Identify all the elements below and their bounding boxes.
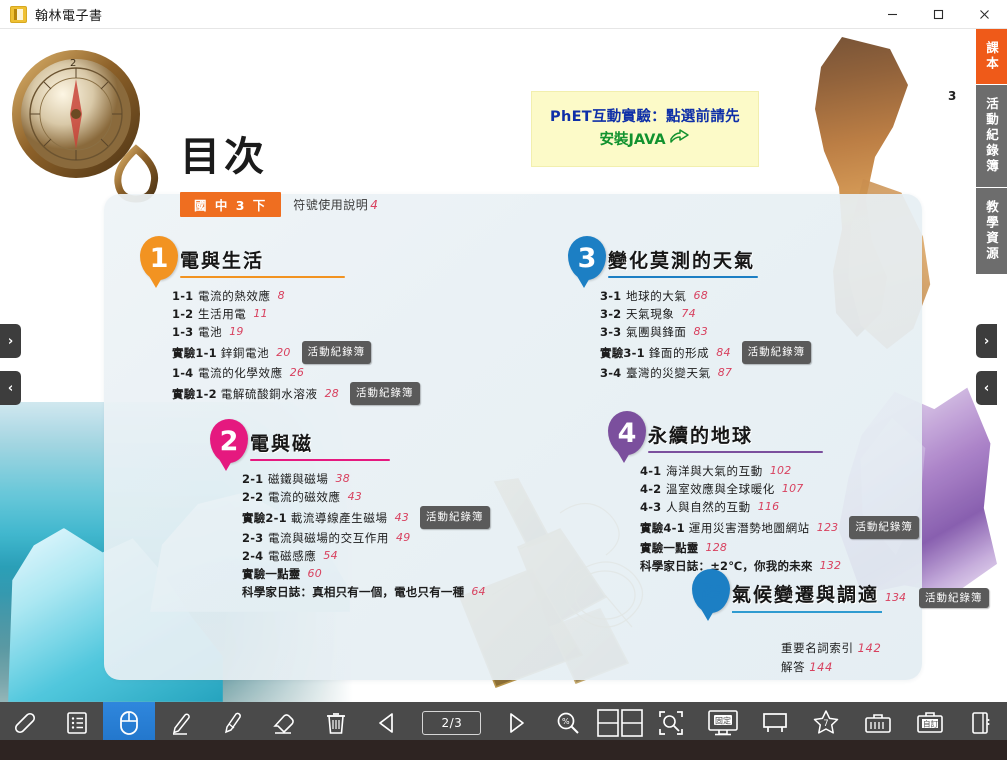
right-tab-label: 課本 (982, 41, 1001, 72)
chapter-header[interactable]: 3變化莫測的天氣 (568, 236, 811, 280)
page-number: 3 (948, 89, 956, 103)
toc-entry[interactable]: 1-3電池19 (172, 323, 420, 341)
window-title: 翰林電子書 (35, 5, 103, 24)
toc-entry-number: 1-1 (172, 287, 194, 305)
expand-icon (970, 707, 992, 739)
toc-entry-page: 68 (694, 287, 708, 305)
chapter-block-3: 3變化莫測的天氣3-1地球的大氣683-2天氣現象743-3氣團與鋒面83實驗3… (568, 236, 811, 382)
left-back-tab[interactable]: ‹ (0, 371, 21, 405)
toc-entry-number: 3-1 (600, 287, 622, 305)
chapter-number: 3 (578, 243, 597, 274)
toolbox-icon (864, 707, 892, 739)
toc-entry-page: 74 (681, 305, 695, 323)
record-book-button[interactable]: 活動紀錄簿 (420, 506, 490, 529)
toolbar-item-next-arrow[interactable]: 下一頁 (491, 702, 543, 760)
toolbar-item-label: 全刪 (324, 740, 347, 755)
toolbar-item-whiteboard[interactable]: 白板 (749, 702, 801, 760)
toolbar-item-contents[interactable]: 回目次 (52, 702, 104, 760)
toc-entry-number: 實驗1-2 (172, 385, 217, 403)
toolbar-item-trash[interactable]: 全刪 (310, 702, 362, 760)
right-tab-1[interactable]: 課本 (976, 29, 1007, 85)
toc-entry-number: 實驗一點靈 (640, 539, 699, 557)
toc-entry-number: 實驗3-1 (600, 344, 645, 362)
right-tab-strip: 課本活動紀錄簿教學資源 (976, 29, 1007, 275)
toc-entry[interactable]: 實驗1-2電解硫酸銅水溶液28活動紀錄簿 (172, 382, 420, 405)
toolbar-item-label: 展開 (970, 740, 993, 755)
toolbar-item-display-scale[interactable]: 固定顯示比例 (697, 702, 749, 760)
toolbar-item-eraser[interactable]: 橡皮擦 (258, 702, 310, 760)
toc-entry-page: 64 (471, 583, 485, 601)
toc-subheader: 國 中 3 下 符號使用說明4 (180, 192, 378, 217)
pen-icon (169, 707, 193, 739)
toolbar-item-number-picker[interactable]: 7選號器 (800, 702, 852, 760)
toolbar-item-label: 四格放大 (597, 740, 643, 755)
toc-entry-number: 4-1 (640, 462, 662, 480)
chapter-item-list: 1-1電流的熱效應81-2生活用電111-3電池19實驗1-1鋅銅電池20活動紀… (172, 287, 420, 405)
display-scale-icon: 固定 (706, 707, 740, 739)
record-book-button[interactable]: 活動紀錄簿 (742, 341, 812, 364)
toc-entry-label: 電流的磁效應 (268, 488, 341, 506)
chapter-title: 電與生活 (180, 246, 345, 273)
toolbar-item-label: 螢光筆 (215, 740, 250, 755)
chapter-block-4: 4永續的地球4-1海洋與大氣的互動1024-2溫室效應與全球暖化1074-3人與… (608, 411, 919, 575)
chapter-title: 電與磁 (250, 429, 390, 456)
cross-curricular-block: 跨 氣候變遷與調適 134 活動紀錄簿 (692, 569, 989, 613)
toolbar-item-label: 原尺寸 (551, 740, 586, 755)
toc-entry[interactable]: 實驗2-1載流導線產生磁場43活動紀錄簿 (242, 506, 490, 529)
maximize-button[interactable] (915, 0, 961, 29)
toc-entry-page: 20 (276, 344, 290, 362)
cross-badge: 跨 (692, 569, 730, 613)
chapter-rule (648, 451, 823, 453)
svg-text:%: % (562, 717, 570, 726)
record-book-button[interactable]: 活動紀錄簿 (849, 516, 919, 539)
toc-entry-page: 123 (817, 519, 839, 537)
toc-entry-number: 實驗2-1 (242, 509, 287, 527)
back-matter-page: 144 (809, 660, 833, 674)
phet-note-line1: PhET互動實驗：點選前請先 (550, 106, 740, 128)
toolbar-item-actual-size[interactable]: %原尺寸 (542, 702, 594, 760)
grade-badge: 國 中 3 下 (180, 192, 281, 217)
toolbar-item-label: 頁籤工具 (429, 740, 475, 755)
chapter-number-badge: 2 (210, 419, 248, 463)
eraser-icon (271, 707, 297, 739)
toc-entry[interactable]: 科學家日誌：真相只有一個，電也只有一種64 (242, 583, 490, 601)
book-icon (10, 6, 27, 23)
svg-text:7: 7 (824, 719, 829, 729)
toc-entry-label: 電池 (198, 323, 222, 341)
toc-entry-number: 實驗1-1 (172, 344, 217, 362)
toc-entry[interactable]: 實驗3-1鋒面的形成84活動紀錄簿 (600, 341, 811, 364)
toolbar-item-label: 上一頁 (370, 740, 405, 755)
chapter-number-badge: 1 (140, 236, 178, 280)
toolbar-item-mouse[interactable]: 滑鼠 (103, 702, 155, 760)
toc-entry-page: 43 (348, 488, 362, 506)
cross-curricular-page: 134 (885, 591, 906, 604)
toc-entry-label: 電流與磁場的交互作用 (268, 529, 389, 547)
toc-entry-label: 載流導線產生磁場 (291, 509, 388, 527)
toc-entry-page: 116 (758, 498, 780, 516)
toc-entry[interactable]: 實驗一點靈60 (242, 565, 490, 583)
record-book-button[interactable]: 活動紀錄簿 (350, 382, 420, 405)
toc-entry-label: 電磁感應 (268, 547, 316, 565)
chapter-item-list: 2-1磁鐵與磁場382-2電流的磁效應43實驗2-1載流導線產生磁場43活動紀錄… (242, 470, 490, 601)
phet-note-line2: 安裝JAVA (599, 129, 690, 152)
right-back-tab[interactable]: ‹ (976, 371, 997, 405)
toc-entry[interactable]: 3-1地球的大氣68 (600, 287, 811, 305)
toc-entry-number: 3-4 (600, 364, 622, 382)
left-forward-tab[interactable]: › (0, 324, 21, 358)
page-indicator-value[interactable]: 2/3 (422, 711, 481, 735)
toolbar-item-label: 滑鼠 (118, 740, 141, 755)
trash-icon (325, 707, 347, 739)
cross-curricular-title: 氣候變遷與調適 (732, 580, 879, 607)
back-matter-label: 重要名詞索引 (781, 641, 854, 655)
toc-entry-page: 102 (770, 462, 792, 480)
chapter-number: 2 (220, 426, 239, 457)
toolbar-item-label: 儲存 (14, 740, 37, 755)
toc-entry-number: 4-2 (640, 480, 662, 498)
toc-entry-label: 生活用電 (198, 305, 246, 323)
chapter-title: 永續的地球 (648, 421, 823, 448)
book-page: 2 (0, 29, 1007, 702)
highlighter-icon (220, 707, 244, 739)
chapter-number: 1 (150, 243, 169, 274)
chapter-rule (180, 276, 345, 278)
symbol-guide-link[interactable]: 符號使用說明4 (293, 196, 378, 213)
chapter-title: 變化莫測的天氣 (608, 246, 758, 273)
toolbar-item-label: 自訂 (918, 740, 941, 755)
toc-entry-label: 溫室效應與全球暖化 (666, 480, 775, 498)
toolbar-item-label: 工具箱 (861, 740, 896, 755)
area-zoom-icon (657, 707, 685, 739)
toc-entry-number: 實驗4-1 (640, 519, 685, 537)
toc-entry-page: 128 (706, 539, 728, 557)
toolbar-item-custom[interactable]: 自訂自訂 (904, 702, 956, 760)
toolbar-item-label: 選號器 (809, 740, 844, 755)
chapter-header[interactable]: 2電與磁 (210, 419, 490, 463)
chapter-block-2: 2電與磁2-1磁鐵與磁場382-2電流的磁效應43實驗2-1載流導線產生磁場43… (210, 419, 490, 601)
toc-entry-label: 磁鐵與磁場 (268, 470, 329, 488)
toc-entry-page: 54 (323, 547, 337, 565)
close-button[interactable] (961, 0, 1007, 29)
toolbar-item-pen[interactable]: 畫筆 (155, 702, 207, 760)
back-matter-label: 解答 (781, 660, 805, 674)
toc-entry-label: 鋅銅電池 (221, 344, 269, 362)
toolbar-item-save[interactable]: 儲存 (0, 702, 52, 760)
svg-text:固定: 固定 (715, 716, 731, 726)
save-icon (13, 707, 39, 739)
toc-entry-page: 84 (716, 344, 730, 362)
mouse-icon (115, 707, 143, 739)
toc-entry-number: 1-2 (172, 305, 194, 323)
title-bar: 翰林電子書 (0, 0, 1007, 29)
back-matter-entry[interactable]: 重要名詞索引142 (781, 639, 881, 658)
chapter-number: 4 (618, 418, 637, 449)
toc-entry-page: 87 (718, 364, 732, 382)
toc-entry-label: 電解硫酸銅水溶液 (221, 385, 318, 403)
toolbar-item-highlighter[interactable]: 螢光筆 (207, 702, 259, 760)
toolbar-item-area-zoom[interactable]: 局部放大 (646, 702, 698, 760)
back-matter-page: 142 (858, 641, 882, 655)
right-tab-label: 活動紀錄簿 (982, 97, 1001, 175)
back-matter-list: 重要名詞索引142解答144 (781, 639, 881, 677)
right-tab-label: 教學資源 (982, 200, 1001, 262)
toc-entry[interactable]: 3-4臺灣的災變天氣87 (600, 364, 811, 382)
page-indicator: 2/3 (422, 707, 481, 739)
toc-entry-number: 2-4 (242, 547, 264, 565)
window-controls (869, 0, 1007, 29)
toc-entry-number: 2-2 (242, 488, 264, 506)
actual-size-icon: % (555, 707, 581, 739)
toc-entry-number: 2-3 (242, 529, 264, 547)
toc-entry-number: 1-4 (172, 364, 194, 382)
pointing-hand-icon (669, 129, 691, 152)
toc-entry-page: 49 (396, 529, 410, 547)
toc-entry[interactable]: 實驗4-1運用災害潛勢地圖網站123活動紀錄簿 (640, 516, 919, 539)
toolbar-item-label: 橡皮擦 (267, 740, 302, 755)
toc-entry[interactable]: 4-1海洋與大氣的互動102 (640, 462, 919, 480)
toc-entry-page: 28 (325, 385, 339, 403)
toc-entry-label: 地球的大氣 (626, 287, 687, 305)
chapter-header[interactable]: 4永續的地球 (608, 411, 919, 455)
page-title: 目次 (180, 124, 378, 182)
phet-note-line2-text: 安裝JAVA (599, 129, 665, 151)
custom-icon: 自訂 (916, 707, 944, 739)
toolbar-item-label: 回目次 (60, 740, 95, 755)
chapter-item-list: 4-1海洋與大氣的互動1024-2溫室效應與全球暖化1074-3人與自然的互動1… (640, 462, 919, 575)
toc-entry-label: 運用災害潛勢地圖網站 (689, 519, 810, 537)
toolbar-item-prev-arrow[interactable]: 上一頁 (361, 702, 413, 760)
chapter-block-1: 1電與生活1-1電流的熱效應81-2生活用電111-3電池19實驗1-1鋅銅電池… (140, 236, 420, 405)
toc-entry[interactable]: 3-3氣團與鋒面83 (600, 323, 811, 341)
toc-entry-label: 臺灣的災變天氣 (626, 364, 711, 382)
chapter-item-list: 3-1地球的大氣683-2天氣現象743-3氣團與鋒面83實驗3-1鋒面的形成8… (600, 287, 811, 382)
cross-curricular-row[interactable]: 跨 氣候變遷與調適 134 活動紀錄簿 (692, 569, 989, 613)
toolbar-item-label: 畫筆 (169, 740, 192, 755)
contents-icon (65, 707, 89, 739)
toolbar-item-label: 局部放大 (648, 740, 694, 755)
toc-entry[interactable]: 2-4電磁感應54 (242, 547, 490, 565)
toc-entry[interactable]: 4-3人與自然的互動116 (640, 498, 919, 516)
symbol-guide-page: 4 (370, 198, 378, 212)
toc-entry-number: 3-2 (600, 305, 622, 323)
svg-text:2: 2 (70, 58, 76, 69)
whiteboard-icon (761, 707, 789, 739)
chapter-number-badge: 4 (608, 411, 646, 455)
right-forward-tab[interactable]: › (976, 324, 997, 358)
toc-entry-page: 43 (395, 509, 409, 527)
toc-entry[interactable]: 1-1電流的熱效應8 (172, 287, 420, 305)
symbol-guide-label: 符號使用說明 (293, 198, 368, 212)
toc-entry-page: 83 (694, 323, 708, 341)
toc-entry-number: 1-3 (172, 323, 194, 341)
toc-entry[interactable]: 2-2電流的磁效應43 (242, 488, 490, 506)
toc-entry-label: 人與自然的互動 (666, 498, 751, 516)
toolbar-item-grid-zoom[interactable]: 四格放大 (594, 702, 646, 760)
svg-text:自訂: 自訂 (923, 719, 938, 729)
toc-entry-label: 天氣現象 (626, 305, 674, 323)
toc-entry-page: 26 (290, 364, 304, 382)
compass-photo: 2 (6, 39, 176, 209)
application-window: 翰林電子書 (0, 0, 1007, 760)
toc-entry-label: 電流的化學效應 (198, 364, 283, 382)
toc-entry[interactable]: 1-2生活用電11 (172, 305, 420, 323)
chapter-header[interactable]: 1電與生活 (140, 236, 420, 280)
toolbar-item-label: 白板 (763, 740, 786, 755)
chapter-number-badge: 3 (568, 236, 606, 280)
minimize-button[interactable] (869, 0, 915, 29)
toolbar-item-page-indicator[interactable]: 2/3頁籤工具 (413, 702, 490, 760)
grid-zoom-icon (597, 707, 643, 739)
toc-entry-number: 3-3 (600, 323, 622, 341)
toc-entry[interactable]: 2-1磁鐵與磁場38 (242, 470, 490, 488)
toc-entry[interactable]: 1-4電流的化學效應26 (172, 364, 420, 382)
toc-entry-page: 38 (336, 470, 350, 488)
toc-entry[interactable]: 實驗1-1鋅銅電池20活動紀錄簿 (172, 341, 420, 364)
toc-entry-page: 19 (229, 323, 243, 341)
toolbar-item-label: 顯示比例 (700, 740, 746, 755)
toc-entry-number: 科學家日誌：真相只有一個，電也只有一種 (242, 583, 464, 601)
phet-note-box: PhET互動實驗：點選前請先 安裝JAVA (531, 91, 759, 167)
toc-entry-page: 60 (308, 565, 322, 583)
record-book-button[interactable]: 活動紀錄簿 (919, 588, 989, 608)
toc-entry-page: 8 (278, 287, 285, 305)
toolbar-item-toolbox[interactable]: 工具箱 (852, 702, 904, 760)
toc-entry-number: 2-1 (242, 470, 264, 488)
toolbar-item-label: 下一頁 (499, 740, 534, 755)
toc-entry[interactable]: 4-2溫室效應與全球暖化107 (640, 480, 919, 498)
next-arrow-icon (503, 707, 529, 739)
toc-entry-label: 海洋與大氣的互動 (666, 462, 763, 480)
toc-entry[interactable]: 2-3電流與磁場的交互作用49 (242, 529, 490, 547)
toc-header: 目次 國 中 3 下 符號使用說明4 (180, 124, 378, 217)
toc-entry-number: 4-3 (640, 498, 662, 516)
toc-entry[interactable]: 3-2天氣現象74 (600, 305, 811, 323)
toc-entry-number: 實驗一點靈 (242, 565, 301, 583)
toolbar-item-expand[interactable]: 展開 (955, 702, 1007, 760)
right-tab-2[interactable]: 活動紀錄簿 (976, 85, 1007, 188)
bottom-toolbar: 儲存回目次滑鼠畫筆螢光筆橡皮擦全刪上一頁2/3頁籤工具下一頁%原尺寸四格放大局部… (0, 702, 1007, 760)
toc-entry-page: 107 (782, 480, 804, 498)
number-picker-icon: 7 (812, 707, 840, 739)
chapter-rule (250, 459, 390, 461)
prev-arrow-icon (374, 707, 400, 739)
chapter-rule (608, 276, 758, 278)
toc-entry-label: 氣團與鋒面 (626, 323, 687, 341)
toc-entry[interactable]: 實驗一點靈128 (640, 539, 919, 557)
toc-entry-label: 電流的熱效應 (198, 287, 271, 305)
back-matter-entry[interactable]: 解答144 (781, 658, 881, 677)
record-book-button[interactable]: 活動紀錄簿 (302, 341, 372, 364)
toc-entry-page: 11 (253, 305, 267, 323)
toc-entry-label: 鋒面的形成 (649, 344, 710, 362)
right-tab-3[interactable]: 教學資源 (976, 188, 1007, 275)
